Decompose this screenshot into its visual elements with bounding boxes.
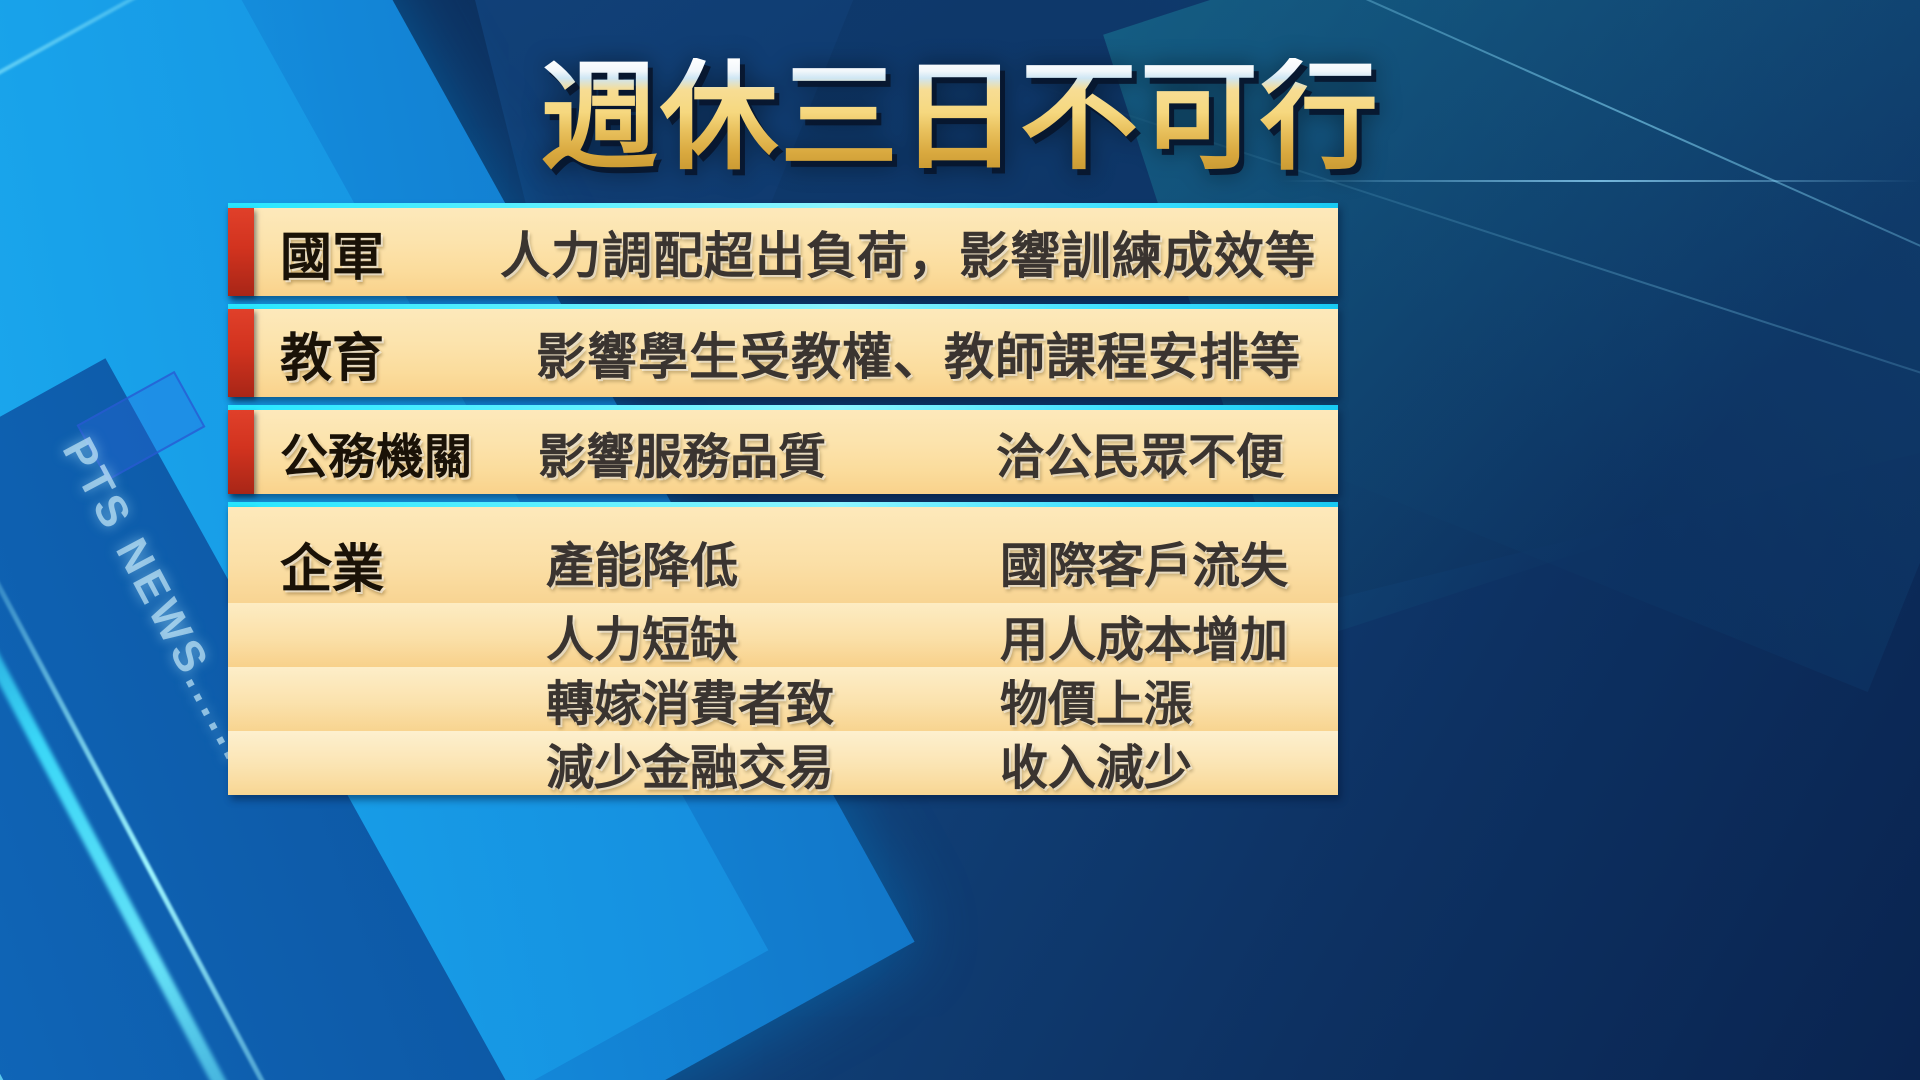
row-body: 企業 產能降低 國際客戶流失 人力短缺 用人成本增加 轉嫁消費者致 物價上漲 減… [228,507,1338,795]
row-description-right: 用人成本增加 [1000,600,1288,670]
table-row: 國軍 人力調配超出負荷，影響訓練成效等 [228,203,1338,296]
impact-table: 國軍 人力調配超出負荷，影響訓練成效等 教育 影響學生受教權、教師課程安排等 公… [228,203,1338,803]
row-description-right: 收入減少 [1000,728,1192,798]
row-description-left: 減少金融交易 [546,728,834,798]
background-hairline [1280,180,1920,182]
list-item: 轉嫁消費者致 物價上漲 [228,667,1338,731]
row-description-left: 影響服務品質 [538,417,826,487]
row-category-label: 公務機關 [280,417,472,487]
list-item: 人力短缺 用人成本增加 [228,603,1338,667]
row-description-left: 轉嫁消費者致 [546,664,834,734]
row-category-label: 教育 [280,316,384,391]
row-category-label: 國軍 [280,215,384,290]
list-item: 減少金融交易 收入減少 [228,731,1338,795]
row-description: 影響學生受教權、教師課程安排等 [536,317,1301,389]
row-description-left: 人力短缺 [546,600,738,670]
table-row: 公務機關 影響服務品質 洽公民眾不便 [228,405,1338,494]
row-red-marker [228,309,254,397]
row-body: 公務機關 影響服務品質 洽公民眾不便 [228,410,1338,494]
row-body: 教育 影響學生受教權、教師課程安排等 [228,309,1338,397]
row-red-marker [228,208,254,296]
row-category-label: 企業 [280,527,384,602]
list-item: 企業 產能降低 國際客戶流失 [228,507,1338,603]
news-graphic-stage: PTS NEWS...... 週休三日不可行 國軍 人力調配超出負荷，影響訓練成… [0,0,1920,1080]
row-red-marker [228,410,254,494]
row-description-right: 物價上漲 [1000,664,1192,734]
table-row: 教育 影響學生受教權、教師課程安排等 [228,304,1338,397]
row-description-left: 產能降低 [546,526,738,596]
row-description-right: 洽公民眾不便 [996,417,1284,487]
row-description: 人力調配超出負荷，影響訓練成效等 [500,216,1316,288]
row-description-right: 國際客戶流失 [1000,526,1288,596]
row-body: 國軍 人力調配超出負荷，影響訓練成效等 [228,208,1338,296]
table-row: 企業 產能降低 國際客戶流失 人力短缺 用人成本增加 轉嫁消費者致 物價上漲 減… [228,502,1338,795]
